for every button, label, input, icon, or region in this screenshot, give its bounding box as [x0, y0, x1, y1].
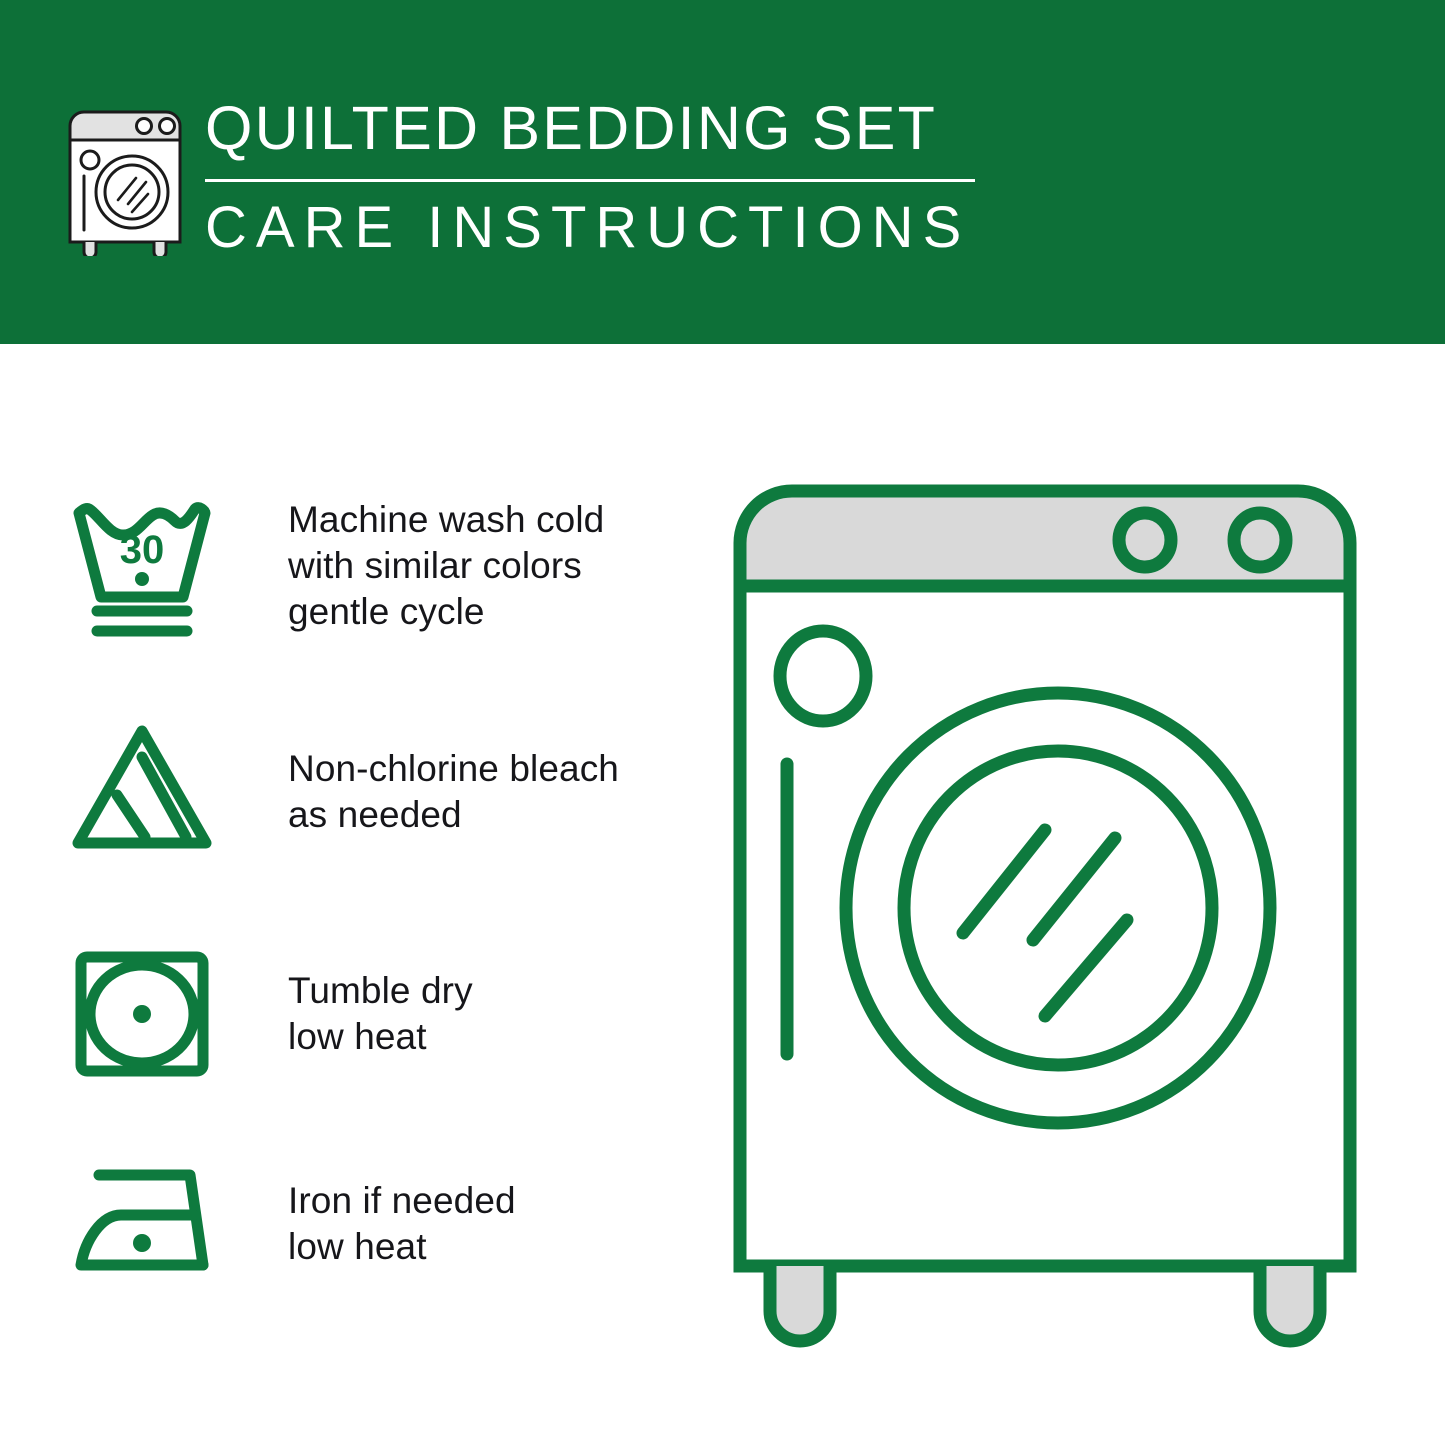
instruction-line: gentle cycle [288, 589, 604, 635]
washing-machine-icon [62, 104, 194, 256]
instruction-label-iron: Iron if needed low heat [288, 1178, 516, 1271]
control-knob [1119, 513, 1171, 567]
instruction-line: low heat [288, 1224, 516, 1270]
header-text-block: QUILTED BEDDING SET CARE INSTRUCTIONS [205, 98, 995, 259]
page-subtitle: CARE INSTRUCTIONS [205, 198, 995, 259]
header-band: QUILTED BEDDING SET CARE INSTRUCTIONS [0, 0, 1445, 344]
iron-low-heat-icon [60, 1149, 230, 1299]
instruction-label-bleach: Non-chlorine bleach as needed [288, 746, 619, 839]
instruction-row-bleach: Non-chlorine bleach as needed [60, 712, 700, 872]
control-knob [1234, 513, 1286, 567]
non-chlorine-bleach-triangle-icon [60, 717, 230, 867]
instruction-label-machine-wash: Machine wash cold with similar colors ge… [288, 497, 604, 636]
dispenser-button [780, 631, 866, 721]
instruction-line: with similar colors [288, 543, 604, 589]
tumble-dry-low-icon [60, 939, 230, 1089]
instruction-line: as needed [288, 792, 619, 838]
instruction-line: Iron if needed [288, 1178, 516, 1224]
instruction-label-tumble-dry: Tumble dry low heat [288, 968, 473, 1061]
washer-leg [1260, 1266, 1320, 1341]
instruction-row-iron: Iron if needed low heat [60, 1144, 700, 1304]
instruction-row-machine-wash: 30 Machine wash cold with similar colors… [60, 486, 700, 646]
instruction-line: low heat [288, 1014, 473, 1060]
wash-temperature-value: 30 [120, 528, 165, 572]
instruction-line: Tumble dry [288, 968, 473, 1014]
care-instructions-page: QUILTED BEDDING SET CARE INSTRUCTIONS 30 [0, 0, 1445, 1445]
instruction-line: Machine wash cold [288, 497, 604, 543]
washer-leg [770, 1266, 830, 1341]
instruction-row-tumble-dry: Tumble dry low heat [60, 934, 700, 1094]
washing-machine-illustration [715, 468, 1415, 1368]
page-title: QUILTED BEDDING SET [205, 98, 995, 159]
title-divider [205, 179, 975, 182]
instruction-line: Non-chlorine bleach [288, 746, 619, 792]
instruction-list: 30 Machine wash cold with similar colors… [0, 344, 720, 1445]
wash-tub-30-icon: 30 [60, 491, 230, 641]
